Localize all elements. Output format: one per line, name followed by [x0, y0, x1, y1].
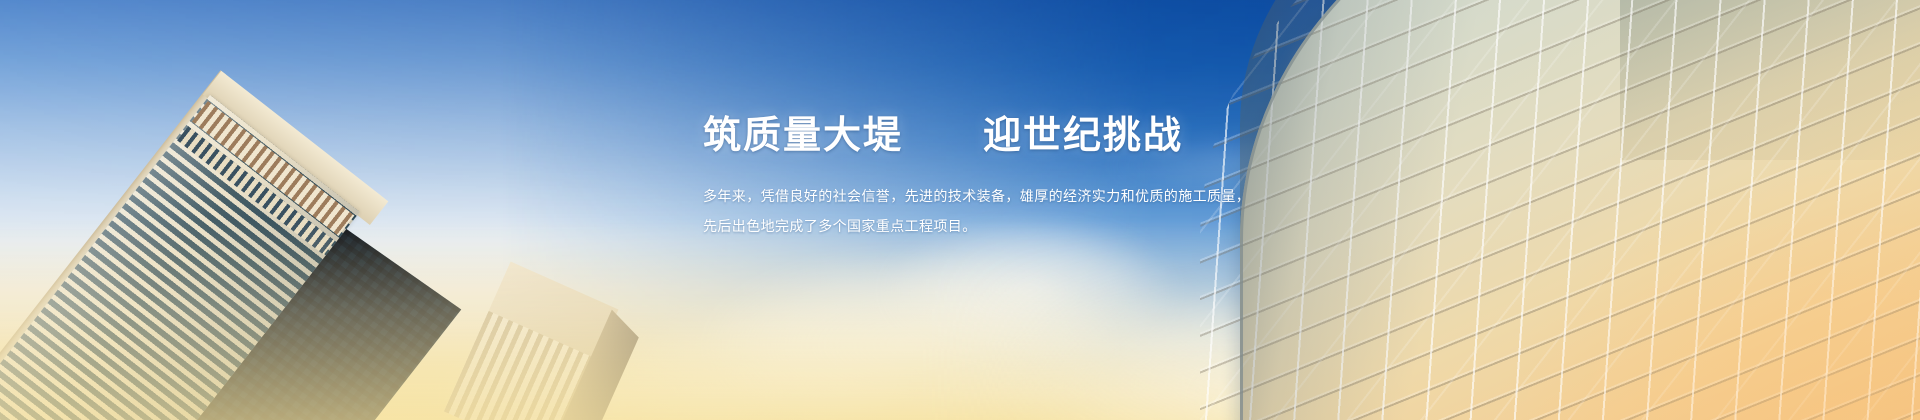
banner-subtitle-line-1: 多年来，凭借良好的社会信誉，先进的技术装备，雄厚的经济实力和优质的施工质量， [703, 182, 1323, 212]
banner-text-block: 筑质量大堤 迎世纪挑战 多年来，凭借良好的社会信誉，先进的技术装备，雄厚的经济实… [703, 110, 1323, 242]
hero-banner: 筑质量大堤 迎世纪挑战 多年来，凭借良好的社会信誉，先进的技术装备，雄厚的经济实… [0, 0, 1920, 420]
banner-subtitle: 多年来，凭借良好的社会信誉，先进的技术装备，雄厚的经济实力和优质的施工质量， 先… [703, 182, 1323, 242]
banner-headline: 筑质量大堤 迎世纪挑战 [703, 110, 1323, 160]
horizon-warm-haze [0, 220, 1920, 420]
banner-subtitle-line-2: 先后出色地完成了多个国家重点工程项目。 [703, 212, 1323, 242]
